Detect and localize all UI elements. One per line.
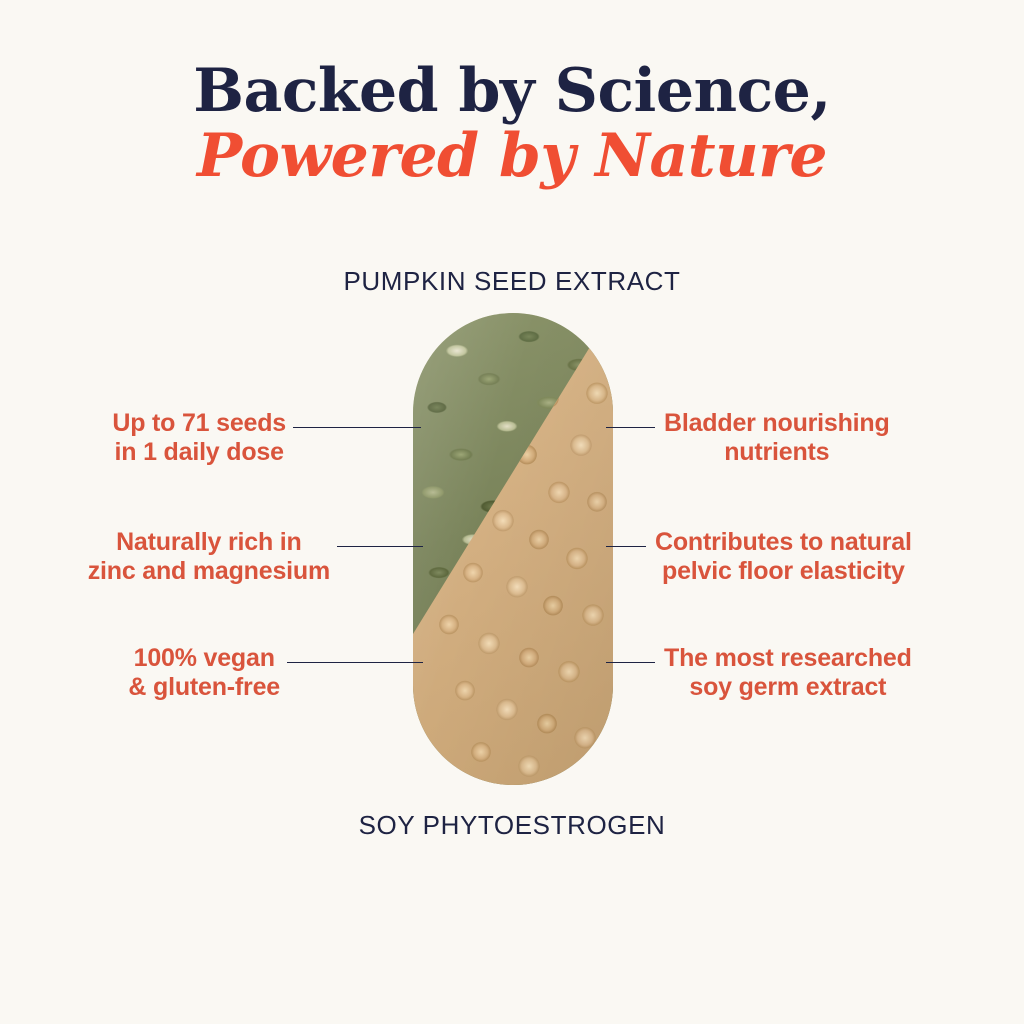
connector-right-1 (606, 427, 655, 428)
benefit-left-2-line-1: Naturally rich in (88, 528, 330, 557)
page-title: Backed by Science, Powered by Nature (0, 62, 1024, 186)
benefit-right-1: Bladder nourishing nutrients (664, 409, 890, 466)
benefit-right-1-line-2: nutrients (664, 438, 890, 467)
headline-line-1: Backed by Science, (0, 62, 1024, 121)
connector-right-2 (606, 546, 646, 547)
connector-left-2 (337, 546, 423, 547)
benefit-left-1-line-2: in 1 daily dose (112, 438, 286, 467)
caption-pumpkin-seed-extract: PUMPKIN SEED EXTRACT (0, 266, 1024, 297)
benefit-right-1-line-1: Bladder nourishing (664, 409, 890, 438)
headline-line-2: Powered by Nature (0, 127, 1024, 186)
benefit-left-1-line-1: Up to 71 seeds (112, 409, 286, 438)
benefit-left-3-line-2: & gluten-free (128, 673, 280, 702)
infographic-canvas: Backed by Science, Powered by Nature PUM… (0, 0, 1024, 1024)
benefit-right-3-line-1: The most researched (664, 644, 912, 673)
benefit-left-1: Up to 71 seeds in 1 daily dose (112, 409, 286, 466)
benefit-right-3: The most researched soy germ extract (664, 644, 912, 701)
benefit-right-2-line-2: pelvic floor elasticity (655, 557, 912, 586)
benefit-left-2: Naturally rich in zinc and magnesium (88, 528, 330, 585)
connector-left-1 (293, 427, 421, 428)
benefit-left-3-line-1: 100% vegan (128, 644, 280, 673)
benefit-right-3-line-2: soy germ extract (664, 673, 912, 702)
benefit-right-2: Contributes to natural pelvic floor elas… (655, 528, 912, 585)
caption-soy-phytoestrogen: SOY PHYTOESTROGEN (0, 810, 1024, 841)
connector-left-3 (287, 662, 423, 663)
benefit-left-3: 100% vegan & gluten-free (128, 644, 280, 701)
capsule-illustration (413, 313, 613, 785)
connector-right-3 (606, 662, 655, 663)
benefit-right-2-line-1: Contributes to natural (655, 528, 912, 557)
benefit-left-2-line-2: zinc and magnesium (88, 557, 330, 586)
